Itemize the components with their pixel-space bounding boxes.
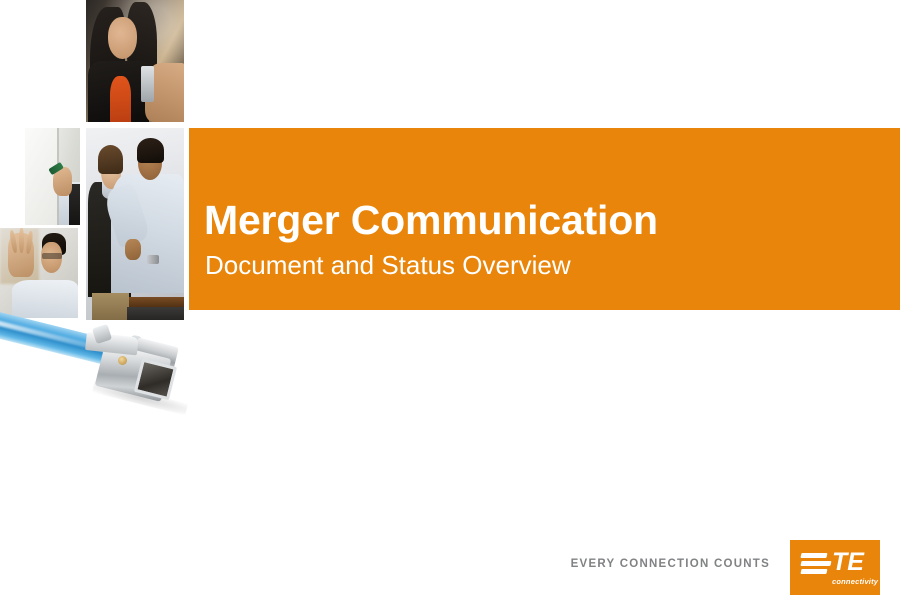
photo-gesture-finger-2 [19,228,24,253]
logo-inner: TE connectivity [790,540,880,595]
photo-gesture-glasses [42,253,62,258]
te-bar-bottom [801,569,828,574]
brand-tagline: EVERY CONNECTION COUNTS [571,558,770,570]
te-connectivity-logo: TE connectivity [790,540,880,595]
photo-twomen-right-watch [147,255,159,265]
page-title: Merger Communication [204,200,658,241]
logo-subtext: connectivity [832,578,878,586]
photo-twomen-right-hair [137,138,164,163]
photo-collage [0,0,190,320]
photo-woman-device [141,66,154,103]
title-banner: Merger Communication Document and Status… [189,128,900,310]
photo-woman-shirt [110,76,132,122]
photo-two-men-discussion [86,128,184,320]
te-bars-icon [801,553,831,575]
photo-twomen-left-hair [98,145,123,174]
photo-twomen-right-hand [125,239,141,260]
page-subtitle: Document and Status Overview [205,252,571,278]
photo-whiteboard-hand [25,128,80,225]
logo-wordmark: TE [832,550,864,575]
connector-pin [118,356,127,365]
photo-woman-portrait [86,0,184,122]
te-bar-top [801,553,828,558]
photo-woman-face [108,17,137,58]
product-image-cable-connector [0,300,220,420]
slide-canvas: Merger Communication Document and Status… [0,0,900,600]
te-bar-middle [801,561,832,566]
